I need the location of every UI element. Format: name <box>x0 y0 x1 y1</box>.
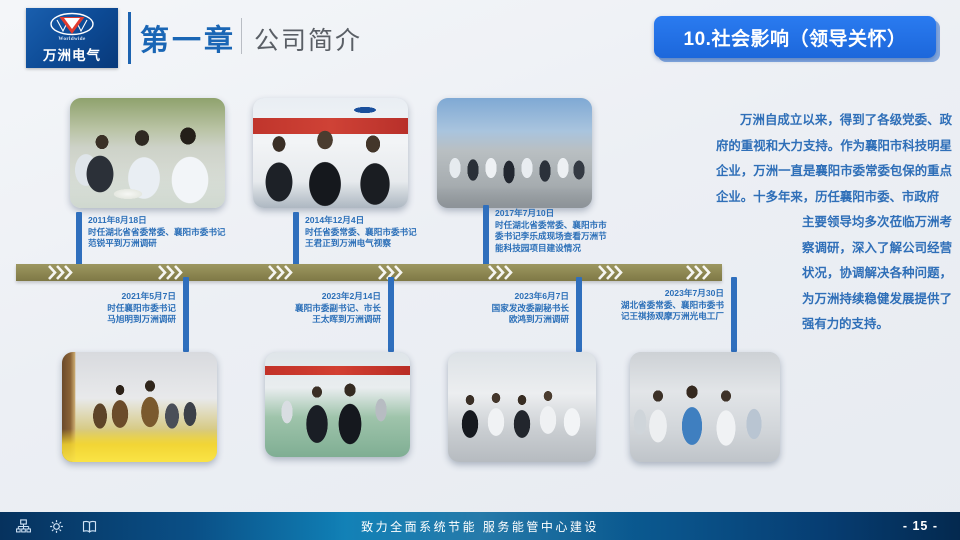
event-line3-2011: 范锐平到万洲调研 <box>88 238 157 248</box>
event-line3-2021: 马旭明到万洲调研 <box>107 314 176 324</box>
event-caption-2023-06: 2023年6月7日 国家发改委副秘书长 欧鸿到万洲调研 <box>423 291 569 326</box>
event-date-2023-07: 2023年7月30日 <box>570 288 724 300</box>
event-line3-2014: 王君正到万洲电气视察 <box>305 238 391 248</box>
event-line2-2014: 时任省委常委、襄阳市委书记 <box>305 227 417 237</box>
timeline-stem-2011 <box>76 212 82 268</box>
event-line2-2023-02: 襄阳市委副书记、市长 <box>295 303 381 313</box>
company-logo: Worldwide 万洲电气 <box>26 8 118 68</box>
event-line3-2023-07: 记王祺扬观摩万洲光电工厂 <box>621 311 724 321</box>
event-line3-2017: 委书记李乐成现场查看万洲节 <box>495 231 607 241</box>
event-caption-2023-02: 2023年2月14日 襄阳市委副书记、市长 王太晖到万洲调研 <box>233 291 381 326</box>
timeline-chevron-icon <box>48 265 57 280</box>
timeline-chevron-icon <box>488 265 497 280</box>
event-date-2011: 2011年8月18日 <box>88 215 263 227</box>
event-line2-2023-07: 湖北省委常委、襄阳市委书 <box>621 300 724 310</box>
slide: Worldwide 万洲电气 第一章 公司简介 10.社会影响（领导关怀） 20… <box>0 0 960 540</box>
timeline-chevron-icon <box>158 265 167 280</box>
photo-figures-2023-07 <box>630 352 780 462</box>
photo-logo-2014 <box>253 98 408 208</box>
photo-figures-2023-02 <box>265 352 410 457</box>
timeline-stem-2021 <box>183 277 189 352</box>
photo-floor-reflection-2021 <box>62 352 217 462</box>
photo-seated-2023-06 <box>448 352 596 462</box>
footer-slogan: 致力全面系统节能 服务能管中心建设 <box>0 518 960 535</box>
section-subtitle: 公司简介 <box>254 21 362 57</box>
chapter-title: 第一章 <box>140 17 236 59</box>
event-photo-2014 <box>253 98 408 208</box>
event-photo-2023-02 <box>265 352 410 457</box>
slide-header: Worldwide 万洲电气 第一章 公司简介 10.社会影响（领导关怀） <box>0 0 960 80</box>
logo-latin-text: Worldwide <box>58 37 85 42</box>
event-caption-2023-07: 2023年7月30日 湖北省委常委、襄阳市委书 记王祺扬观摩万洲光电工厂 <box>570 288 724 323</box>
page-number: - 15 - <box>903 519 938 533</box>
event-line2-2017: 时任湖北省委常委、襄阳市市 <box>495 220 607 230</box>
event-line2-2011: 时任湖北省省委常委、襄阳市委书记 <box>88 227 226 237</box>
event-date-2023-02: 2023年2月14日 <box>233 291 381 303</box>
photo-paper-2011 <box>70 98 225 208</box>
event-photo-2017 <box>437 98 592 208</box>
header-accent-bar <box>128 12 131 64</box>
w-logo-emblem-icon <box>49 12 95 36</box>
timeline-chevron-icon <box>268 265 277 280</box>
event-date-2017: 2017年7月10日 <box>495 208 660 220</box>
event-line3-2023-02: 王太晖到万洲调研 <box>312 314 381 324</box>
timeline-chevron-icon <box>598 265 607 280</box>
event-photo-2023-07 <box>630 352 780 462</box>
event-photo-2021 <box>62 352 217 462</box>
slide-footer: 致力全面系统节能 服务能管中心建设 - 15 - <box>0 512 960 540</box>
event-line3-2023-06: 欧鸿到万洲调研 <box>509 314 569 324</box>
timeline-stem-2014 <box>293 212 299 268</box>
event-line4-2017: 能科技园项目建设情况 <box>495 243 581 253</box>
timeline-chevron-icon <box>378 265 387 280</box>
event-caption-2014: 2014年12月4日 时任省委常委、襄阳市委书记 王君正到万洲电气视察 <box>305 215 470 250</box>
event-caption-2011: 2011年8月18日 时任湖北省省委常委、襄阳市委书记 范锐平到万洲调研 <box>88 215 263 250</box>
event-line2-2021: 时任襄阳市委书记 <box>107 303 176 313</box>
topic-badge-wrap: 10.社会影响（领导关怀） <box>654 16 936 58</box>
timeline-stem-2023-02 <box>388 277 394 352</box>
description-paragraph: 万洲自成立以来，得到了各级党委、政府的重视和大力支持。作为襄阳市科技明星企业，万… <box>716 108 952 338</box>
topic-badge-label: 10.社会影响（领导关怀） <box>684 24 907 51</box>
event-caption-2021: 2021年5月7日 时任襄阳市委书记 马旭明到万洲调研 <box>28 291 176 326</box>
header-divider <box>241 18 242 54</box>
paragraph-part-2: 主要领导均多次莅临万洲考察调研，深入了解公司经营状况，协调解决各种问题，为万洲持… <box>802 210 952 338</box>
event-date-2023-06: 2023年6月7日 <box>423 291 569 303</box>
paragraph-part-1: 万洲自成立以来，得到了各级党委、政府的重视和大力支持。作为襄阳市科技明星企业，万… <box>716 108 952 210</box>
event-caption-2017: 2017年7月10日 时任湖北省委常委、襄阳市市 委书记李乐成现场查看万洲节 能… <box>495 208 660 254</box>
timeline-chevron-icon <box>686 265 695 280</box>
topic-badge: 10.社会影响（领导关怀） <box>654 16 936 58</box>
event-date-2021: 2021年5月7日 <box>28 291 176 303</box>
timeline-stem-2017 <box>483 205 489 268</box>
event-photo-2011 <box>70 98 225 208</box>
event-line2-2023-06: 国家发改委副秘书长 <box>492 303 569 313</box>
photo-crowd-2017 <box>437 98 592 208</box>
event-date-2014: 2014年12月4日 <box>305 215 470 227</box>
event-photo-2023-06 <box>448 352 596 462</box>
logo-chinese-text: 万洲电气 <box>43 44 101 64</box>
